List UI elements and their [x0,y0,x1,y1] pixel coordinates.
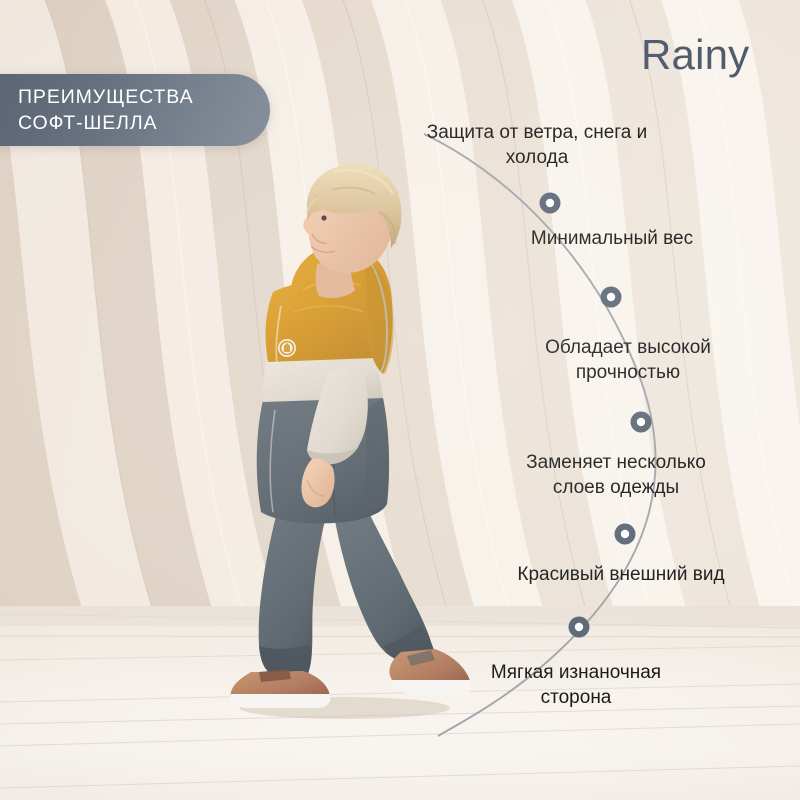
feature-item-6-line1: Мягкая изнаночная [470,660,682,685]
feature-item-5-line1: Красивый внешний вид [505,562,737,587]
feature-item-4-line2: слоев одежды [512,475,720,500]
feature-item-3: Обладает высокой прочностью [529,335,727,385]
feature-item-3-line2: прочностью [529,360,727,385]
feature-item-2: Минимальный вес [512,226,712,251]
feature-item-6-line2: сторона [470,685,682,710]
feature-marker-5 [569,617,590,638]
feature-item-2-line1: Минимальный вес [512,226,712,251]
feature-item-6: Мягкая изнаночная сторона [470,660,682,710]
feature-item-1-line2: холода [405,145,669,170]
feature-marker-1 [540,193,561,214]
feature-marker-2 [601,287,622,308]
feature-item-1-line1: Защита от ветра, снега и [405,120,669,145]
feature-connector-curve [424,134,656,736]
feature-item-4: Заменяет несколько слоев одежды [512,450,720,500]
feature-item-4-line1: Заменяет несколько [512,450,720,475]
feature-marker-4 [615,524,636,545]
feature-item-3-line1: Обладает высокой [529,335,727,360]
feature-marker-3 [631,412,652,433]
poster-canvas: ПРЕИМУЩЕСТВА СОФТ-ШЕЛЛА Rainy Защ [0,0,800,800]
feature-item-1: Защита от ветра, снега и холода [405,120,669,170]
feature-item-5: Красивый внешний вид [505,562,737,587]
